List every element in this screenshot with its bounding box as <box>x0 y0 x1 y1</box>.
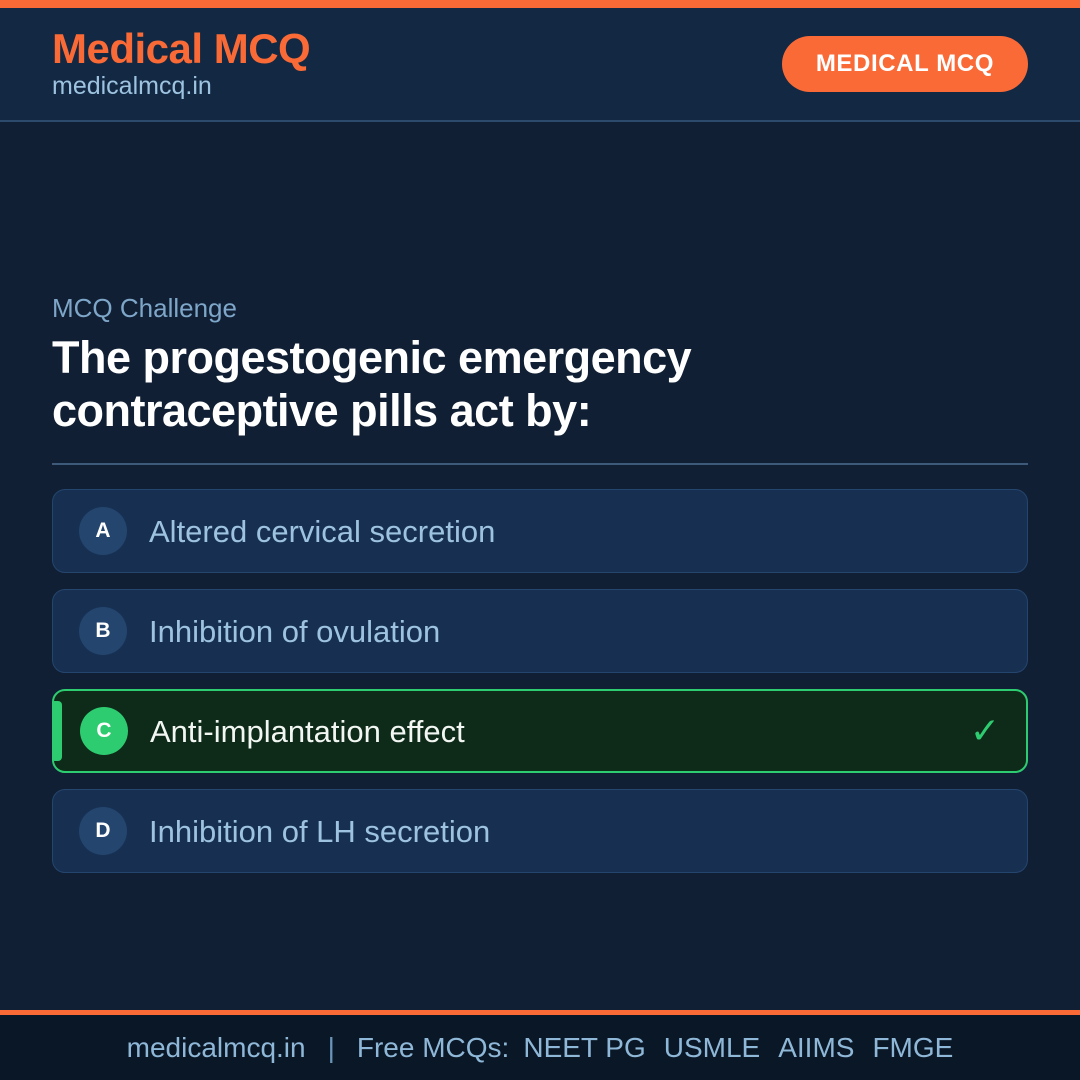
option-label: Anti-implantation effect <box>150 713 954 750</box>
footer-exam-fmge: FMGE <box>872 1032 953 1064</box>
option-letter-badge: D <box>79 807 127 855</box>
footer-separator: | <box>328 1032 335 1064</box>
option-letter-badge: B <box>79 607 127 655</box>
footer-site: medicalmcq.in <box>127 1032 306 1064</box>
question-block: MCQ Challenge The progestogenic emergenc… <box>52 293 1028 437</box>
question-title: The progestogenic emergency contraceptiv… <box>52 332 972 437</box>
option-d[interactable]: D Inhibition of LH secretion <box>52 789 1028 873</box>
option-label: Inhibition of ovulation <box>149 613 985 650</box>
footer-exam-neetpg: NEET PG <box>523 1032 645 1064</box>
brand-url: medicalmcq.in <box>52 73 310 101</box>
brand-badge: MEDICAL MCQ <box>782 36 1028 92</box>
footer-label: Free MCQs: <box>357 1032 509 1064</box>
brand-title: Medical MCQ <box>52 27 310 71</box>
main-content: MCQ Challenge The progestogenic emergenc… <box>0 122 1080 1010</box>
option-letter-badge: C <box>80 707 128 755</box>
top-accent-bar <box>0 0 1080 8</box>
option-c[interactable]: C Anti-implantation effect ✓ <box>52 689 1028 773</box>
section-divider <box>52 463 1028 465</box>
correct-accent-bar <box>54 701 62 761</box>
page-footer: medicalmcq.in | Free MCQs: NEET PG USMLE… <box>0 1010 1080 1080</box>
footer-text-group: medicalmcq.in | Free MCQs: NEET PG USMLE… <box>127 1032 954 1064</box>
mcq-card: Medical MCQ medicalmcq.in MEDICAL MCQ MC… <box>0 0 1080 1080</box>
option-b[interactable]: B Inhibition of ovulation <box>52 589 1028 673</box>
eyebrow-label: MCQ Challenge <box>52 293 1028 324</box>
check-icon: ✓ <box>970 713 1000 749</box>
footer-exam-usmle: USMLE <box>664 1032 760 1064</box>
footer-exam-aiims: AIIMS <box>778 1032 854 1064</box>
option-a[interactable]: A Altered cervical secretion <box>52 489 1028 573</box>
page-header: Medical MCQ medicalmcq.in MEDICAL MCQ <box>0 8 1080 122</box>
option-letter-badge: A <box>79 507 127 555</box>
options-list: A Altered cervical secretion B Inhibitio… <box>52 489 1028 873</box>
option-label: Inhibition of LH secretion <box>149 813 985 850</box>
option-label: Altered cervical secretion <box>149 513 985 550</box>
brand-block: Medical MCQ medicalmcq.in <box>52 27 310 101</box>
